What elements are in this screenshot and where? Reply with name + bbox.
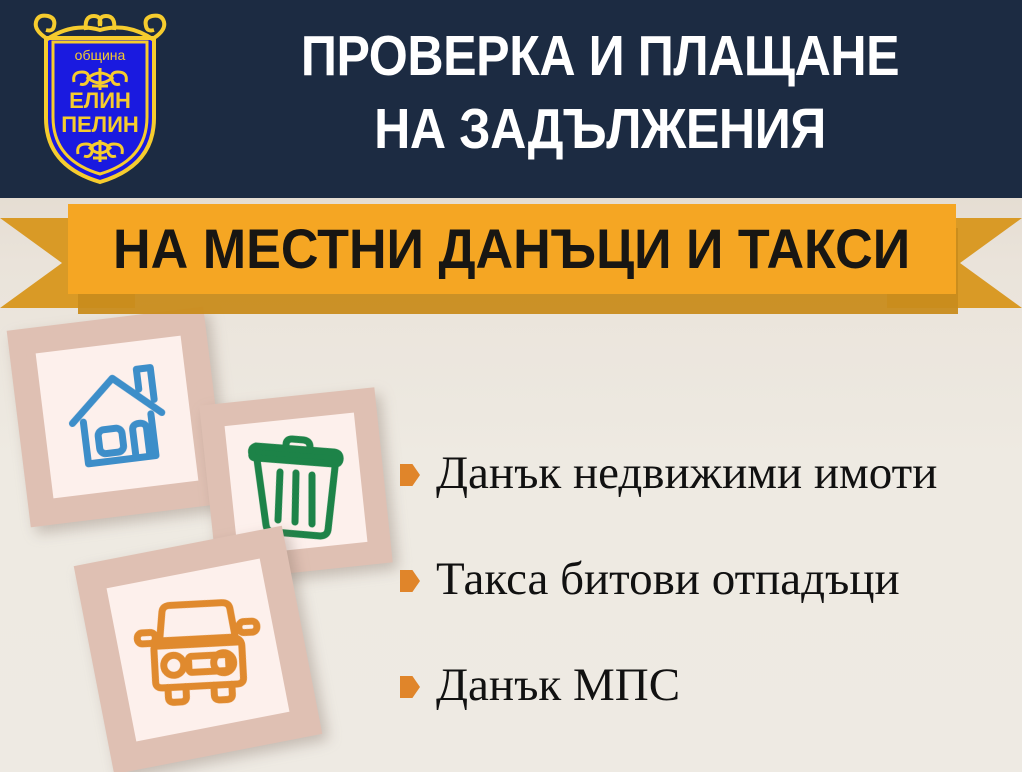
- ribbon-label: НА МЕСТНИ ДАНЪЦИ И ТАКСИ: [113, 221, 910, 277]
- crest-line-elin: ЕЛИН: [69, 88, 131, 113]
- list-item-label: Данък МПС: [436, 660, 680, 710]
- arrow-bullet-icon: [400, 570, 420, 592]
- arrow-bullet-icon: [400, 464, 420, 486]
- stamp-card-property: [7, 307, 228, 528]
- list-item-label: Данък недвижими имоти: [436, 448, 937, 498]
- list-item[interactable]: Данък МПС: [400, 632, 1000, 738]
- list-item[interactable]: Данък недвижими имоти: [400, 420, 1000, 526]
- poster-root: ПРОВЕРКА И ПЛАЩАНЕ НА ЗАДЪЛЖЕНИЯ: [0, 0, 1022, 772]
- page-title: ПРОВЕРКА И ПЛАЩАНЕ НА ЗАДЪЛЖЕНИЯ: [239, 20, 961, 166]
- crest-line-obshtina: община: [75, 47, 126, 63]
- ribbon-banner: НА МЕСТНИ ДАНЪЦИ И ТАКСИ: [0, 196, 1022, 308]
- list-item-label: Такса битови отпадъци: [436, 554, 900, 604]
- coat-of-arms-icon: община ЕЛИН ПЕЛИН: [24, 8, 176, 188]
- tax-type-list: Данък недвижими имоти Такса битови отпад…: [400, 420, 1000, 738]
- arrow-bullet-icon: [400, 676, 420, 698]
- ribbon-band: НА МЕСТНИ ДАНЪЦИ И ТАКСИ: [68, 204, 956, 294]
- crest-line-pelin: ПЕЛИН: [61, 112, 139, 137]
- stamp-card-vehicle: [74, 526, 323, 772]
- list-item[interactable]: Такса битови отпадъци: [400, 526, 1000, 632]
